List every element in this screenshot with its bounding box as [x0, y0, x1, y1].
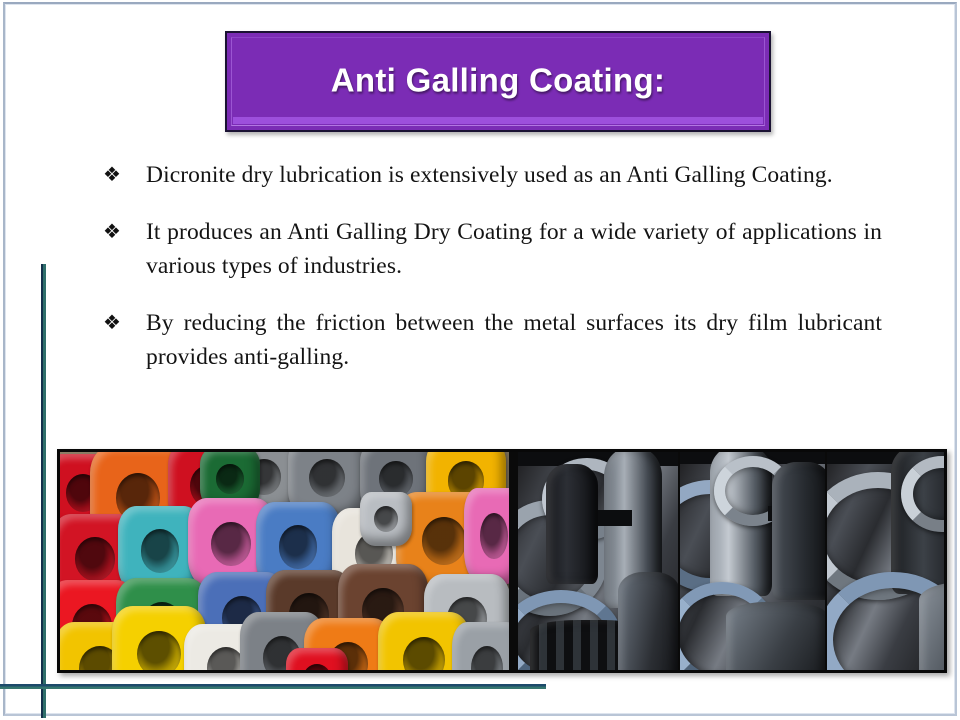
diamond-bullet-icon: ❖: [100, 306, 146, 340]
metal-tube: [919, 582, 944, 670]
nut-shape: [452, 622, 509, 670]
diamond-bullet-icon: ❖: [100, 215, 146, 249]
metal-tube: [546, 464, 598, 584]
list-item: ❖ By reducing the friction between the m…: [100, 306, 882, 374]
photo-divider: [509, 452, 518, 670]
nut-shape: [464, 488, 509, 584]
coated-nuts-photo: [60, 452, 509, 670]
metal-tube: [726, 602, 825, 670]
page-title: Anti Galling Coating:: [227, 61, 769, 99]
bullet-list: ❖ Dicronite dry lubrication is extensive…: [100, 158, 882, 397]
metal-photo-panel-2: [678, 452, 825, 670]
list-item-text: By reducing the friction between the met…: [146, 306, 882, 374]
list-item: ❖ Dicronite dry lubrication is extensive…: [100, 158, 882, 192]
title-banner-gloss: [233, 117, 763, 124]
list-item: ❖ It produces an Anti Galling Dry Coatin…: [100, 215, 882, 283]
metal-photo-panel-3: [825, 452, 944, 670]
nut-shape: [360, 492, 412, 546]
metal-tube: [618, 572, 678, 670]
metal-photo-panel-1: [518, 452, 678, 670]
decorative-horizontal-rule: [0, 684, 546, 689]
slide-canvas: Anti Galling Coating: ❖ Dicronite dry lu…: [0, 0, 960, 720]
list-item-text: It produces an Anti Galling Dry Coating …: [146, 215, 882, 283]
metal-tube: [772, 462, 825, 600]
title-banner: Anti Galling Coating:: [225, 31, 771, 132]
metal-slot: [598, 510, 632, 526]
machined-metal-parts-photo: [518, 452, 944, 670]
nut-shape: [286, 648, 348, 670]
image-strip: [57, 449, 947, 673]
list-item-text: Dicronite dry lubrication is extensively…: [146, 158, 882, 192]
decorative-vertical-rule: [41, 264, 46, 718]
diamond-bullet-icon: ❖: [100, 158, 146, 192]
